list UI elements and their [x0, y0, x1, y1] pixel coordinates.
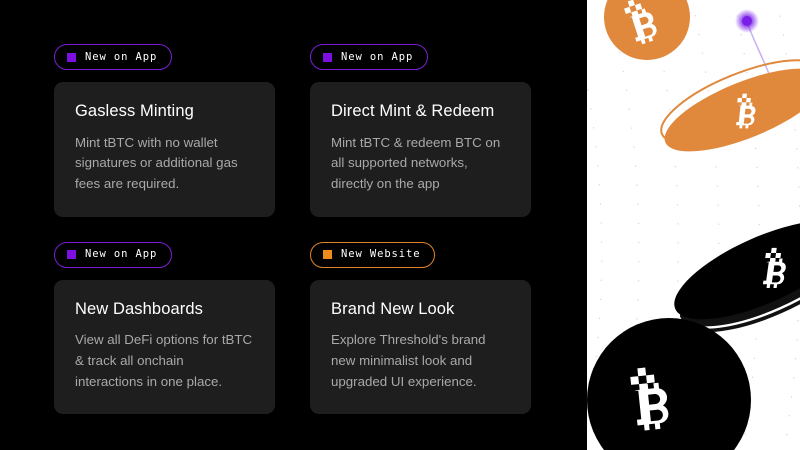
status-badge: New on App	[310, 44, 428, 70]
feature-cell-2: New on App Direct Mint & Redeem Mint tBT…	[310, 44, 531, 217]
status-badge-label: New on App	[341, 52, 413, 63]
feature-card[interactable]: Brand New Look Explore Threshold's brand…	[310, 280, 531, 415]
feature-card-body: View all DeFi options for tBTC & track a…	[75, 330, 254, 392]
feature-cell-3: New on App New Dashboards View all DeFi …	[54, 242, 275, 415]
feature-card-title: Gasless Minting	[75, 102, 254, 122]
status-badge: New Website	[310, 242, 435, 268]
feature-card-body: Mint tBTC with no wallet signatures or a…	[75, 133, 254, 195]
artwork-panel	[587, 0, 800, 450]
status-badge-label: New on App	[85, 52, 157, 63]
page-root: New on App Gasless Minting Mint tBTC wit…	[0, 0, 800, 450]
feature-card-title: Direct Mint & Redeem	[331, 102, 510, 122]
feature-card-body: Mint tBTC & redeem BTC on all supported …	[331, 133, 510, 195]
feature-card-grid: New on App Gasless Minting Mint tBTC wit…	[54, 44, 532, 414]
feature-cell-1: New on App Gasless Minting Mint tBTC wit…	[54, 44, 275, 217]
feature-card[interactable]: Direct Mint & Redeem Mint tBTC & redeem …	[310, 82, 531, 217]
feature-card[interactable]: New Dashboards View all DeFi options for…	[54, 280, 275, 415]
square-icon	[67, 250, 76, 259]
square-icon	[67, 53, 76, 62]
feature-card-body: Explore Threshold's brand new minimalist…	[331, 330, 510, 392]
feature-card[interactable]: Gasless Minting Mint tBTC with no wallet…	[54, 82, 275, 217]
feature-card-title: New Dashboards	[75, 300, 254, 320]
square-icon	[323, 250, 332, 259]
feature-card-title: Brand New Look	[331, 300, 510, 320]
status-badge: New on App	[54, 242, 172, 268]
status-badge-label: New on App	[85, 249, 157, 260]
status-badge-label: New Website	[341, 249, 420, 260]
feature-cell-4: New Website Brand New Look Explore Thres…	[310, 242, 531, 415]
square-icon	[323, 53, 332, 62]
status-badge: New on App	[54, 44, 172, 70]
